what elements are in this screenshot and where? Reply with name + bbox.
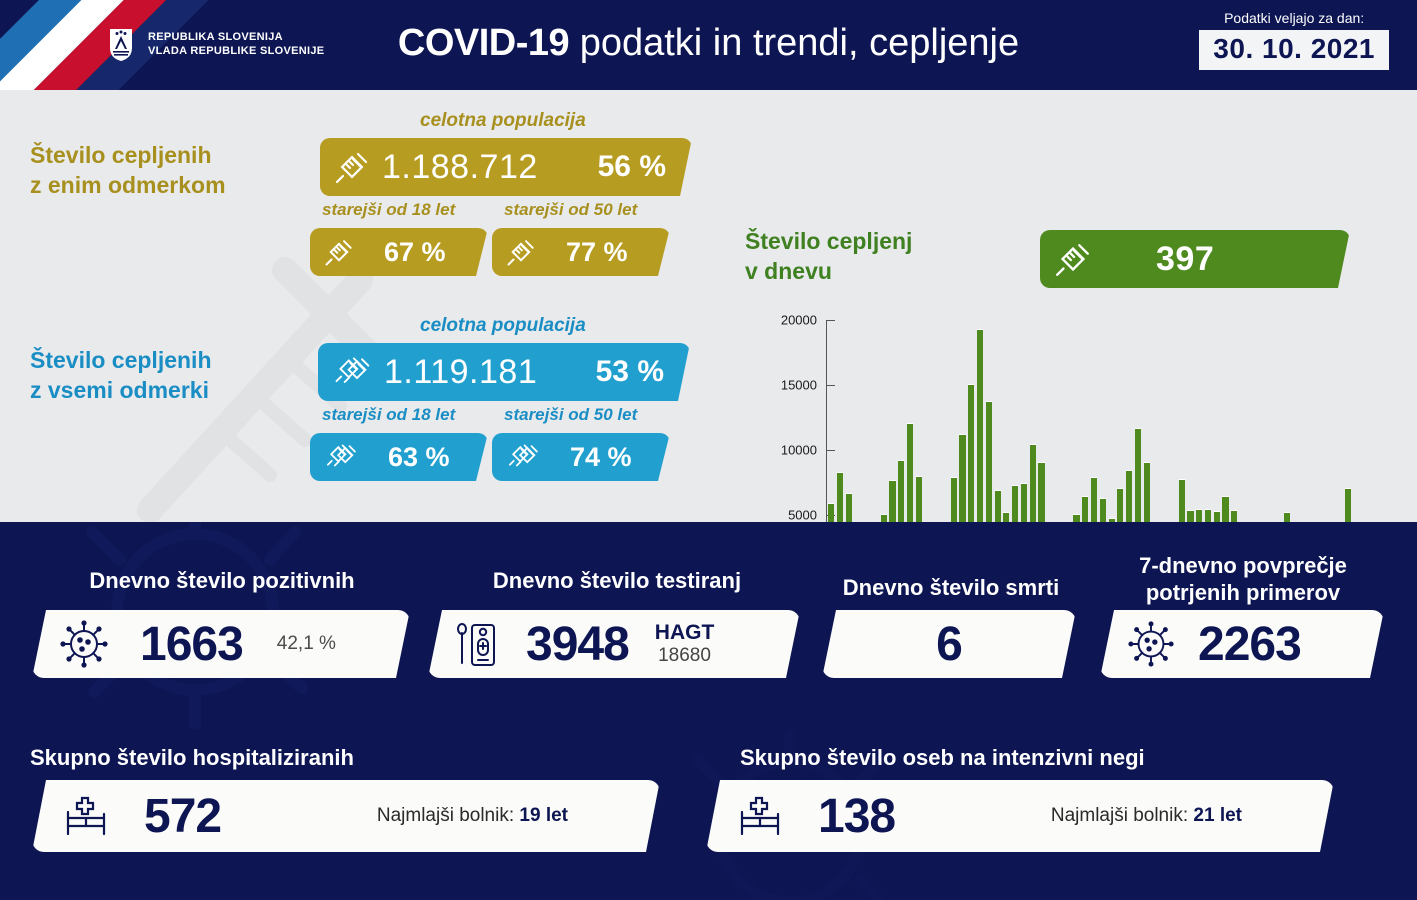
chart-y-tick-label: 15000 bbox=[781, 378, 826, 393]
date-box: Podatki veljajo za dan: 30. 10. 2021 bbox=[1199, 10, 1389, 70]
positives-card: 1663 42,1 % bbox=[32, 610, 410, 678]
chart-bar bbox=[1135, 428, 1141, 522]
icu-value: 138 bbox=[818, 789, 895, 844]
one-dose-age50-chip: 77 % bbox=[492, 228, 670, 276]
tests-hagt-value: 18680 bbox=[655, 644, 715, 667]
hospital-bed-icon bbox=[734, 792, 788, 840]
antigen-test-icon bbox=[456, 619, 498, 669]
icu-youngest-label: Najmlajši bolnik: bbox=[1051, 805, 1194, 826]
one-dose-total-caption: celotna populacija bbox=[420, 110, 586, 132]
chart-bar bbox=[977, 329, 983, 522]
one-dose-age50-caption: starejši od 50 let bbox=[504, 200, 637, 220]
chart-bar bbox=[1030, 444, 1036, 523]
daily-vaccination-value: 397 bbox=[1156, 240, 1214, 279]
positives-value: 1663 bbox=[140, 617, 243, 672]
virus-icon bbox=[60, 620, 108, 668]
chart-bar bbox=[1126, 470, 1132, 523]
chart-bar bbox=[995, 490, 1001, 522]
one-dose-label-line1: Število cepljenih bbox=[30, 140, 226, 170]
average7-heading-line1: 7-dnevno povprečje bbox=[1098, 552, 1388, 579]
chart-bar bbox=[889, 480, 895, 522]
average7-value: 2263 bbox=[1198, 617, 1301, 672]
full-dose-total-chip: 1.119.181 53 % bbox=[318, 343, 690, 401]
one-dose-age50-pct: 77 % bbox=[566, 237, 628, 268]
hospitalized-heading: Skupno število hospitaliziranih bbox=[30, 744, 460, 771]
chart-y-tick-label: 20000 bbox=[781, 313, 826, 328]
full-dose-total-value: 1.119.181 bbox=[384, 353, 537, 392]
full-dose-age50-chip: 74 % bbox=[492, 433, 670, 481]
tests-hagt-label: HAGT bbox=[655, 621, 715, 644]
chart-bar bbox=[959, 434, 965, 522]
one-dose-age18-chip: 67 % bbox=[310, 228, 488, 276]
hospital-bed-icon bbox=[60, 792, 114, 840]
chart-bar bbox=[1082, 496, 1088, 523]
hospitalized-card: 572 Najmlajši bolnik: 19 let bbox=[32, 780, 660, 852]
deaths-heading: Dnevno število smrti bbox=[820, 574, 1082, 601]
chart-bar bbox=[1003, 512, 1009, 522]
tests-heading: Dnevno število testiranj bbox=[432, 567, 802, 594]
virus-icon bbox=[1128, 621, 1174, 667]
chart-bar bbox=[1214, 511, 1220, 522]
daily-vaccination-chip: 397 bbox=[1040, 230, 1350, 288]
chart-bar bbox=[1345, 488, 1351, 522]
date-label: Podatki veljajo za dan: bbox=[1199, 10, 1389, 26]
one-dose-age18-pct: 67 % bbox=[384, 237, 446, 268]
double-syringe-icon bbox=[506, 441, 540, 473]
chart-y-tick-label: 10000 bbox=[781, 443, 826, 458]
vaccination-panel: Število cepljenih z enim odmerkom celotn… bbox=[0, 90, 1417, 522]
chart-bar bbox=[881, 514, 887, 522]
chart-plot-area bbox=[828, 320, 1372, 522]
chart-bar bbox=[1117, 488, 1123, 522]
title-rest: podatki in trendi, cepljenje bbox=[569, 22, 1019, 64]
icu-card: 138 Najmlajši bolnik: 21 let bbox=[706, 780, 1334, 852]
syringe-icon bbox=[1054, 240, 1092, 278]
double-syringe-icon bbox=[332, 353, 372, 391]
header-bar: REPUBLIKA SLOVENIJA VLADA REPUBLIKE SLOV… bbox=[0, 0, 1417, 90]
chart-bar bbox=[1222, 496, 1228, 523]
chart-y-axis: 05000100001500020000 bbox=[826, 320, 827, 522]
hospitalized-youngest: Najmlajši bolnik: 19 let bbox=[377, 805, 568, 827]
full-dose-total-pct: 53 % bbox=[596, 355, 664, 389]
statistics-panel: Dnevno število pozitivnih Dnevno število… bbox=[0, 522, 1417, 900]
chart-bar bbox=[916, 476, 922, 522]
chart-bar bbox=[1021, 483, 1027, 523]
one-dose-total-pct: 56 % bbox=[598, 150, 666, 184]
chart-bar bbox=[1231, 510, 1237, 522]
full-dose-label-line1: Število cepljenih bbox=[30, 345, 212, 375]
full-dose-age50-pct: 74 % bbox=[570, 442, 632, 473]
icu-youngest-value: 21 let bbox=[1193, 805, 1242, 826]
chart-bar bbox=[837, 472, 843, 522]
positives-percentage: 42,1 % bbox=[277, 633, 336, 655]
chart-bar bbox=[1179, 479, 1185, 522]
full-dose-label: Število cepljenih z vsemi odmerki bbox=[30, 345, 212, 405]
syringe-icon bbox=[334, 149, 370, 185]
average7-card: 2263 bbox=[1100, 610, 1384, 678]
infographic-root: REPUBLIKA SLOVENIJA VLADA REPUBLIKE SLOV… bbox=[0, 0, 1417, 900]
one-dose-label-line2: z enim odmerkom bbox=[30, 170, 226, 200]
chart-bars bbox=[828, 320, 1372, 522]
average7-heading: 7-dnevno povprečje potrjenih primerov bbox=[1098, 552, 1388, 606]
chart-bar bbox=[951, 477, 957, 522]
syringe-icon bbox=[324, 237, 354, 267]
tests-card: 3948 HAGT 18680 bbox=[428, 610, 800, 678]
one-dose-age18-caption: starejši od 18 let bbox=[322, 200, 455, 220]
average7-heading-line2: potrjenih primerov bbox=[1098, 579, 1388, 606]
chart-bar bbox=[1196, 509, 1202, 523]
full-dose-age18-caption: starejši od 18 let bbox=[322, 405, 455, 425]
deaths-card: 6 bbox=[822, 610, 1076, 678]
deaths-value: 6 bbox=[936, 617, 962, 672]
chart-bar bbox=[1187, 510, 1193, 522]
full-dose-age18-chip: 63 % bbox=[310, 433, 488, 481]
chart-bar bbox=[898, 460, 904, 522]
chart-bar bbox=[1100, 498, 1106, 522]
icu-youngest: Najmlajši bolnik: 21 let bbox=[1051, 805, 1242, 827]
chart-y-tick-label: 5000 bbox=[788, 508, 826, 523]
chart-bar bbox=[1205, 509, 1211, 523]
one-dose-total-value: 1.188.712 bbox=[382, 148, 538, 187]
daily-vaccination-label: Število cepljenj v dnevu bbox=[745, 226, 912, 286]
full-dose-age18-pct: 63 % bbox=[388, 442, 450, 473]
chart-bar bbox=[828, 503, 834, 522]
chart-bar bbox=[1073, 514, 1079, 522]
chart-bar bbox=[1038, 462, 1044, 522]
chart-bar bbox=[1091, 477, 1097, 522]
one-dose-total-chip: 1.188.712 56 % bbox=[320, 138, 692, 196]
full-dose-age50-caption: starejši od 50 let bbox=[504, 405, 637, 425]
daily-vaccination-chart: 05000100001500020000 bbox=[770, 312, 1390, 522]
double-syringe-icon bbox=[324, 441, 358, 473]
tests-hagt: HAGT 18680 bbox=[655, 621, 715, 667]
tests-value: 3948 bbox=[526, 617, 629, 672]
positives-heading: Dnevno število pozitivnih bbox=[30, 567, 414, 594]
hospitalized-youngest-value: 19 let bbox=[519, 805, 568, 826]
daily-label-line2: v dnevu bbox=[745, 256, 912, 286]
title-bold: COVID-19 bbox=[398, 22, 569, 64]
full-dose-total-caption: celotna populacija bbox=[420, 315, 586, 337]
chart-bar bbox=[907, 423, 913, 522]
chart-bar bbox=[1144, 462, 1150, 522]
chart-bar bbox=[968, 384, 974, 522]
hospitalized-youngest-label: Najmlajši bolnik: bbox=[377, 805, 520, 826]
icu-heading: Skupno število oseb na intenzivni negi bbox=[740, 744, 1300, 771]
full-dose-label-line2: z vsemi odmerki bbox=[30, 375, 212, 405]
chart-bar bbox=[986, 401, 992, 522]
daily-label-line1: Število cepljenj bbox=[745, 226, 912, 256]
hospitalized-value: 572 bbox=[144, 789, 221, 844]
chart-bar bbox=[1012, 485, 1018, 522]
date-value: 30. 10. 2021 bbox=[1199, 30, 1389, 70]
syringe-icon bbox=[506, 237, 536, 267]
chart-bar bbox=[1284, 512, 1290, 522]
one-dose-label: Število cepljenih z enim odmerkom bbox=[30, 140, 226, 200]
chart-bar bbox=[846, 493, 852, 522]
